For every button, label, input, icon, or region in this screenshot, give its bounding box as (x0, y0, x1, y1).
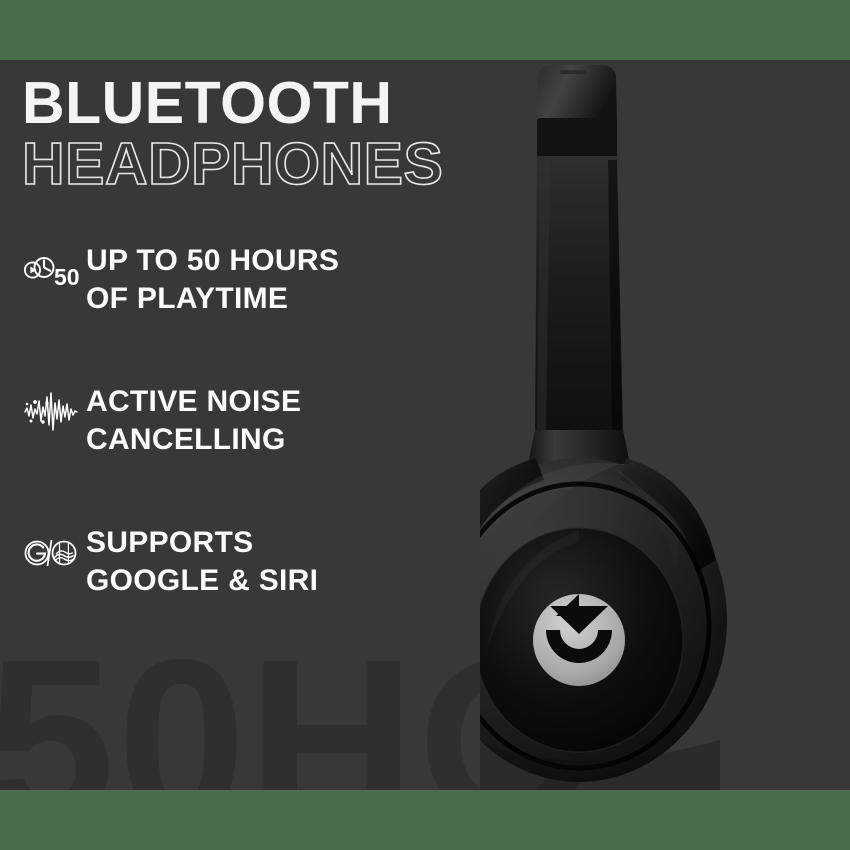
frame-band-top (0, 0, 850, 60)
title-line-bluetooth: BLUETOOTH (22, 74, 443, 133)
feature-line-1: SUPPORTS (86, 524, 318, 562)
feature-line-2: OF PLAYTIME (86, 280, 339, 318)
feature-line-2: GOOGLE & SIRI (86, 562, 318, 600)
feature-text-noise-cancelling: ACTIVE NOISE CANCELLING (86, 381, 301, 460)
feature-item-playtime: 50 UP TO 50 HOURS OF PLAYTIME (16, 240, 456, 319)
feature-text-voice-assistant: SUPPORTS GOOGLE & SIRI (86, 522, 318, 601)
title-line-headphones: HEADPHONES (22, 134, 443, 194)
feature-item-voice-assistant: SUPPORTS GOOGLE & SIRI (16, 522, 456, 601)
content-panel: 50HO BLUETOOTH HEADPHONES 50 (0, 60, 850, 790)
google-siri-icon (16, 522, 86, 578)
frame-band-bottom (0, 790, 850, 850)
playtime-clock-icon: 50 (16, 240, 86, 296)
product-feature-banner: 50HO BLUETOOTH HEADPHONES 50 (0, 0, 850, 850)
audio-waveform-icon (16, 381, 86, 437)
watermark-text: 50HO (0, 642, 600, 790)
feature-line-1: UP TO 50 HOURS (86, 242, 339, 280)
feature-list: 50 UP TO 50 HOURS OF PLAYTIME (16, 240, 456, 600)
feature-item-noise-cancelling: ACTIVE NOISE CANCELLING (16, 381, 456, 460)
feature-text-playtime: UP TO 50 HOURS OF PLAYTIME (86, 240, 339, 319)
feature-line-1: ACTIVE NOISE (86, 383, 301, 421)
headline-block: BLUETOOTH HEADPHONES (22, 74, 443, 194)
playtime-badge-value: 50 (54, 264, 80, 288)
feature-line-2: CANCELLING (86, 421, 301, 459)
